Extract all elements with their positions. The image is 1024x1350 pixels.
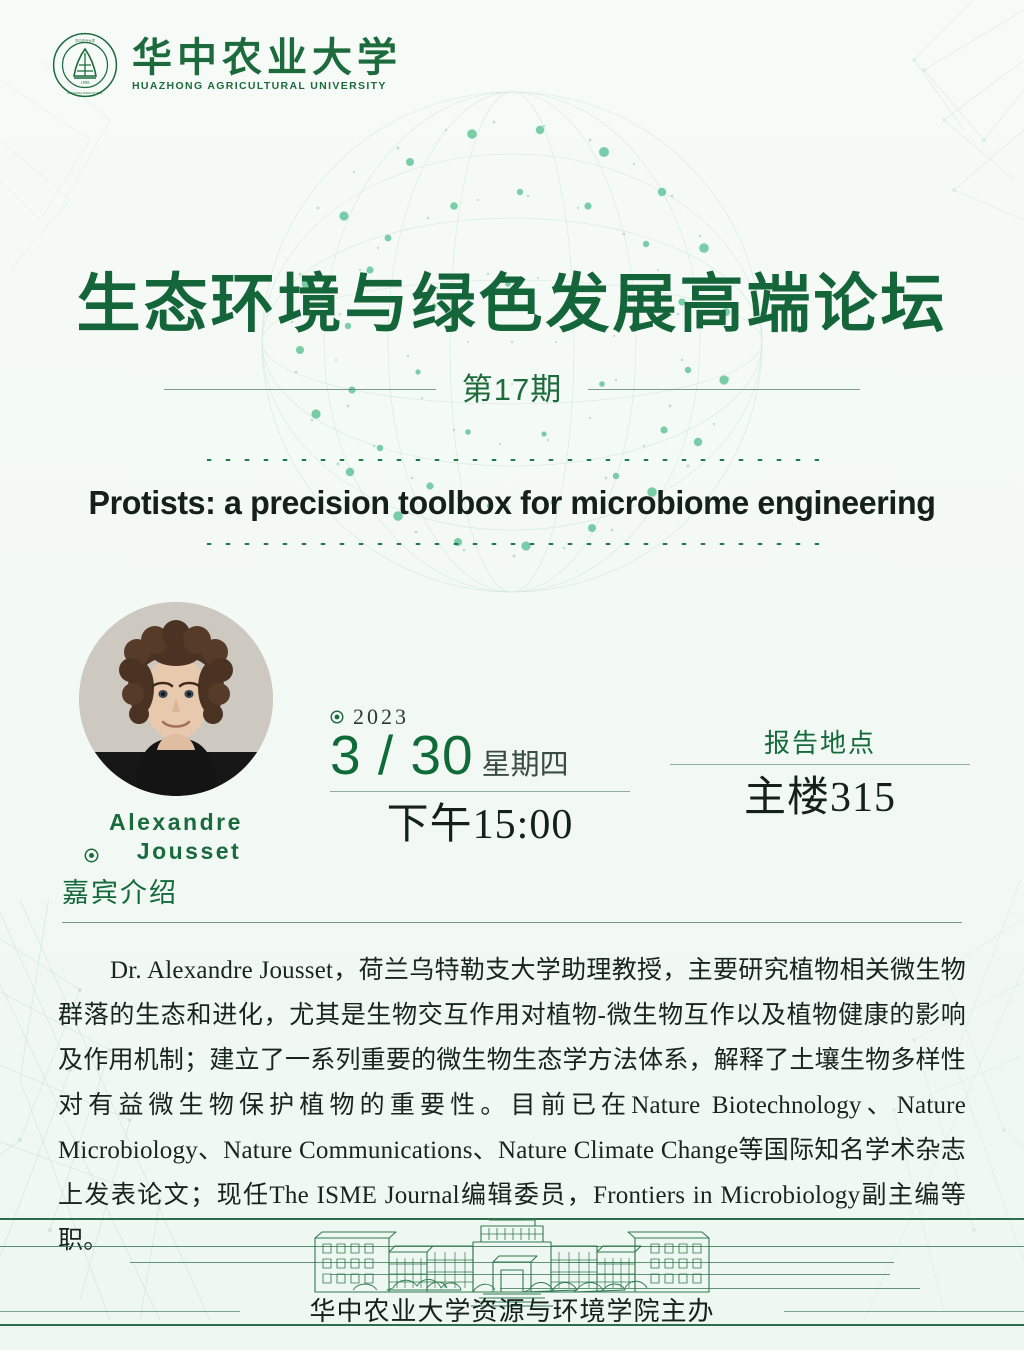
footer-rule-bottom bbox=[0, 1324, 1024, 1326]
intro-heading: 嘉宾介绍 bbox=[62, 880, 178, 907]
huazhong-agricultural-university-seal-icon: 1898 华中农业大学 HUAZHONG AGRICULTURAL bbox=[52, 32, 118, 98]
svg-text:华中农业大学: 华中农业大学 bbox=[75, 38, 95, 43]
venue-value: 主楼315 bbox=[670, 777, 970, 819]
date-divider bbox=[330, 791, 630, 792]
speaker-avatar bbox=[79, 602, 273, 796]
event-date-main: 3 / 30 星期四 bbox=[330, 728, 630, 783]
issue-rule-right bbox=[588, 389, 860, 390]
event-month-day: 3 / 30 bbox=[330, 728, 474, 783]
university-name: 华中农业大学 HUAZHONG AGRICULTURAL UNIVERSITY bbox=[132, 38, 402, 92]
footer-organizer: 华中农业大学资源与环境学院主办 bbox=[0, 1298, 1024, 1324]
target-circle-icon bbox=[330, 710, 344, 724]
target-circle-icon bbox=[84, 848, 99, 863]
issue-row: 第17期 bbox=[0, 374, 1024, 405]
university-name-en: HUAZHONG AGRICULTURAL UNIVERSITY bbox=[132, 80, 402, 92]
speaker-name: Alexandre Jousset bbox=[72, 808, 280, 867]
university-logo: 1898 华中农业大学 HUAZHONG AGRICULTURAL 华中农业大学… bbox=[52, 32, 402, 98]
speaker-given-name: Alexandre bbox=[72, 808, 280, 837]
intro-divider bbox=[62, 922, 962, 923]
svg-text:HUAZHONG AGRICULTURAL: HUAZHONG AGRICULTURAL bbox=[67, 91, 103, 95]
issue-rule-left bbox=[164, 389, 436, 390]
talk-title-en: Protists: a precision toolbox for microb… bbox=[20, 484, 1003, 524]
issue-number: 第17期 bbox=[462, 374, 562, 405]
svg-text:1898: 1898 bbox=[81, 80, 91, 85]
event-date-block: 2023 3 / 30 星期四 下午15:00 bbox=[330, 704, 630, 846]
dotted-divider-bottom bbox=[207, 540, 819, 548]
corner-network-top-right-icon bbox=[724, 0, 1024, 260]
event-venue-block: 报告地点 主楼315 bbox=[670, 730, 970, 819]
venue-label: 报告地点 bbox=[670, 730, 970, 756]
venue-divider bbox=[670, 764, 970, 765]
speaker-portrait-illustration bbox=[79, 602, 273, 796]
event-time: 下午15:00 bbox=[330, 804, 630, 846]
university-name-cn: 华中农业大学 bbox=[132, 38, 402, 78]
forum-title: 生态环境与绿色发展高端论坛 bbox=[0, 272, 1024, 336]
speaker-block: Alexandre Jousset bbox=[72, 602, 280, 867]
event-weekday: 星期四 bbox=[482, 751, 569, 780]
event-info-bar: 2023 3 / 30 星期四 下午15:00 报告地点 主楼315 bbox=[330, 704, 970, 854]
poster-footer: 华中农业大学资源与环境学院主办 bbox=[0, 1210, 1024, 1350]
dotted-divider-top bbox=[207, 456, 819, 464]
speaker-family-name: Jousset bbox=[72, 837, 280, 866]
poster-root: 1898 华中农业大学 HUAZHONG AGRICULTURAL 华中农业大学… bbox=[0, 0, 1024, 1350]
